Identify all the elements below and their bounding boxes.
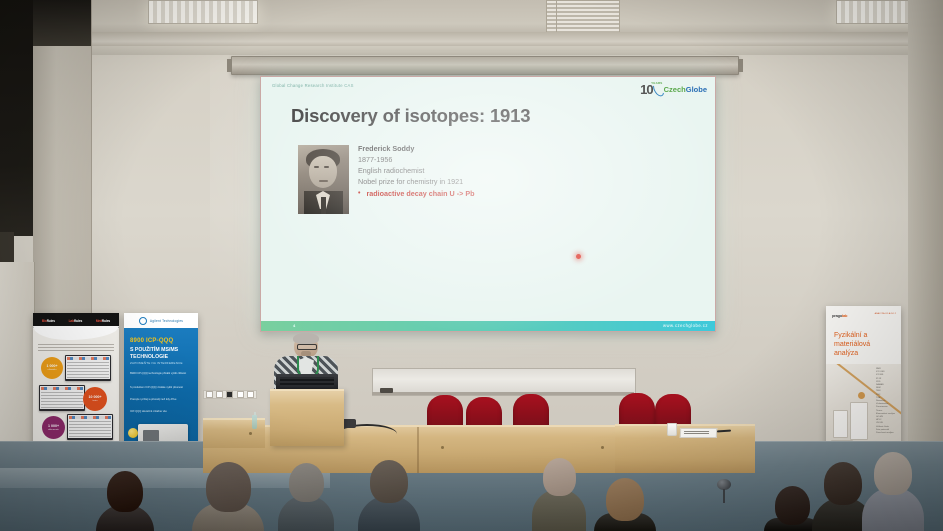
pragolab-tagline: ANALÝZA OD A DO Z [875, 313, 896, 316]
ceiling-vent-mid [556, 0, 620, 34]
table-knob-1 [441, 446, 444, 449]
pragolab-logo-lab: lab [842, 313, 847, 318]
logo-wordmark: CzechGlobe [664, 86, 707, 94]
head [370, 460, 408, 503]
outlet-socket-1 [206, 391, 213, 398]
bio-bullet-row: • radioactive decay chain U -> Pb [358, 188, 475, 199]
audience-head-1 [96, 471, 154, 531]
logo-czech-text: Czech [664, 85, 686, 94]
cabinet-knob [249, 432, 252, 435]
audience-head-4 [358, 460, 420, 531]
projected-slide: Global Change Research Institute CAS 10 … [260, 76, 716, 332]
audience-head-3 [278, 463, 334, 531]
presenter-glasses-icon [297, 344, 317, 350]
portrait-face [309, 156, 337, 188]
lecture-hall-scene: Global Change Research Institute CAS 10 … [0, 0, 943, 531]
wall-outlet-strip[interactable] [203, 390, 257, 399]
slide-kicker: Global Change Research Institute CAS [272, 83, 354, 88]
pragolab-headline: Fyzikální a materiálová analýza [834, 331, 896, 358]
agilent-mark-icon [139, 317, 147, 325]
agilent-bullet-3: Pracujte rychleji a přesněji než kdy dří… [130, 398, 192, 401]
audience-head-2 [192, 462, 264, 531]
poster-laptop-3 [67, 414, 113, 440]
whiteboard-marker [380, 388, 393, 393]
agilent-tagline: ZAPOMEŇTE NA INTERFERENCE [130, 361, 183, 365]
portrait-eye-left [314, 166, 319, 168]
pragolab-method-item: Povrchová analýza [876, 432, 898, 435]
head [874, 452, 912, 495]
head [824, 462, 862, 505]
outlet-socket-5 [247, 391, 254, 398]
poster-brand-a: BioRules [42, 319, 55, 323]
slide-bio-block: Frederick Soddy 1877-1956 English radioc… [358, 143, 475, 199]
water-bottle[interactable] [252, 415, 257, 429]
slide-page-number: 4 [293, 323, 295, 328]
outlet-socket-3 [226, 391, 233, 398]
pragolab-sphere-icon [858, 392, 865, 399]
microphone-stem [723, 489, 725, 503]
outlet-socket-4 [237, 391, 244, 398]
soddy-portrait [298, 145, 349, 214]
agilent-brand-text: Agilent Technologies [150, 319, 183, 323]
poster-stat-circle-1: 1 000+uživatelů [41, 357, 63, 379]
laser-pointer-dot [576, 254, 581, 259]
head [206, 462, 251, 512]
head [107, 471, 143, 512]
ceiling [0, 0, 943, 34]
portrait-eye-right [324, 166, 329, 168]
pragolab-logo-prago: prago [832, 313, 842, 318]
slide-title: Discovery of isotopes: 1913 [291, 105, 530, 127]
audience-head-5 [532, 458, 586, 531]
head [606, 478, 644, 521]
poster-stat-circle-3: 1 000+dokumentů [42, 416, 65, 439]
projection-screen-housing [231, 56, 739, 75]
pragolab-logo: pragolab [832, 313, 847, 318]
portrait-mouth [319, 180, 328, 182]
pillar-shadow [33, 0, 91, 46]
pragolab-jar-1 [833, 410, 848, 438]
pragolab-method-list: NMRICP-OESICP-MSFT-IRXRDRAMANSEMTEMDSCTG… [876, 368, 898, 435]
audience-head-9 [862, 452, 924, 531]
bio-prize: Nobel prize for chemistry in 1921 [358, 176, 475, 187]
table-knob-2 [601, 446, 604, 449]
podium [270, 389, 344, 446]
head [775, 486, 810, 525]
agilent-subhead: S POUŽITÍM MS/MS TECHNOLOGIE [130, 347, 194, 360]
bio-name: Frederick Soddy [358, 143, 475, 154]
head [543, 458, 576, 496]
bullet-dot-icon: • [358, 188, 360, 199]
agilent-headline: 8900 ICP-QQQ [130, 338, 173, 344]
agilent-lemon-icon [128, 428, 138, 438]
agilent-logo-row: Agilent Technologies [124, 313, 198, 328]
slide-footer-bar: 4 www.czechglobe.cz [261, 321, 715, 331]
audience-head-6 [594, 478, 656, 531]
dark-corner [0, 0, 34, 236]
wall-pillar [33, 0, 92, 318]
desk-microphone[interactable] [715, 479, 733, 495]
poster-intro-text [38, 344, 114, 353]
agilent-bullet-2: S produktem ICP-QQQ získáte vyšší přesno… [130, 386, 192, 389]
paper-cup[interactable] [667, 423, 677, 436]
head [289, 463, 324, 502]
poster-stat-circle-2: 10 000+testů [83, 387, 107, 411]
pragolab-jar-2 [850, 402, 868, 440]
outlet-socket-2 [216, 391, 223, 398]
presenter-hair [293, 333, 319, 344]
slide-footer-url: www.czechglobe.cz [663, 323, 708, 328]
poster-laptop-2 [39, 385, 85, 411]
whiteboard-tray [372, 392, 634, 395]
bio-bullet-text: radioactive decay chain U -> Pb [366, 188, 474, 199]
ceiling-light-left [148, 0, 258, 24]
agilent-bullet-1: 8900 ICP-QQQ technologie přináší vyšší c… [130, 372, 192, 375]
poster-brand-c: MedRules [96, 319, 110, 323]
name-card [680, 428, 718, 438]
right-wall-edge [908, 0, 943, 470]
bio-years: 1877-1956 [358, 154, 475, 165]
logo-globe-text: Globe [686, 85, 707, 94]
ceiling-beam-lower [0, 46, 943, 55]
poster-wave-shape [33, 326, 119, 340]
portrait-tie [321, 197, 326, 214]
agilent-bullet-4: ICP-QQQ skutečně zvládne vše [130, 410, 192, 413]
poster-brand-b: LabRules [69, 319, 83, 323]
poster-laptop-1 [65, 355, 111, 381]
czechglobe-logo: 10 YEARS CzechGlobe [640, 82, 707, 97]
bio-occupation: English radiochemist [358, 165, 475, 176]
